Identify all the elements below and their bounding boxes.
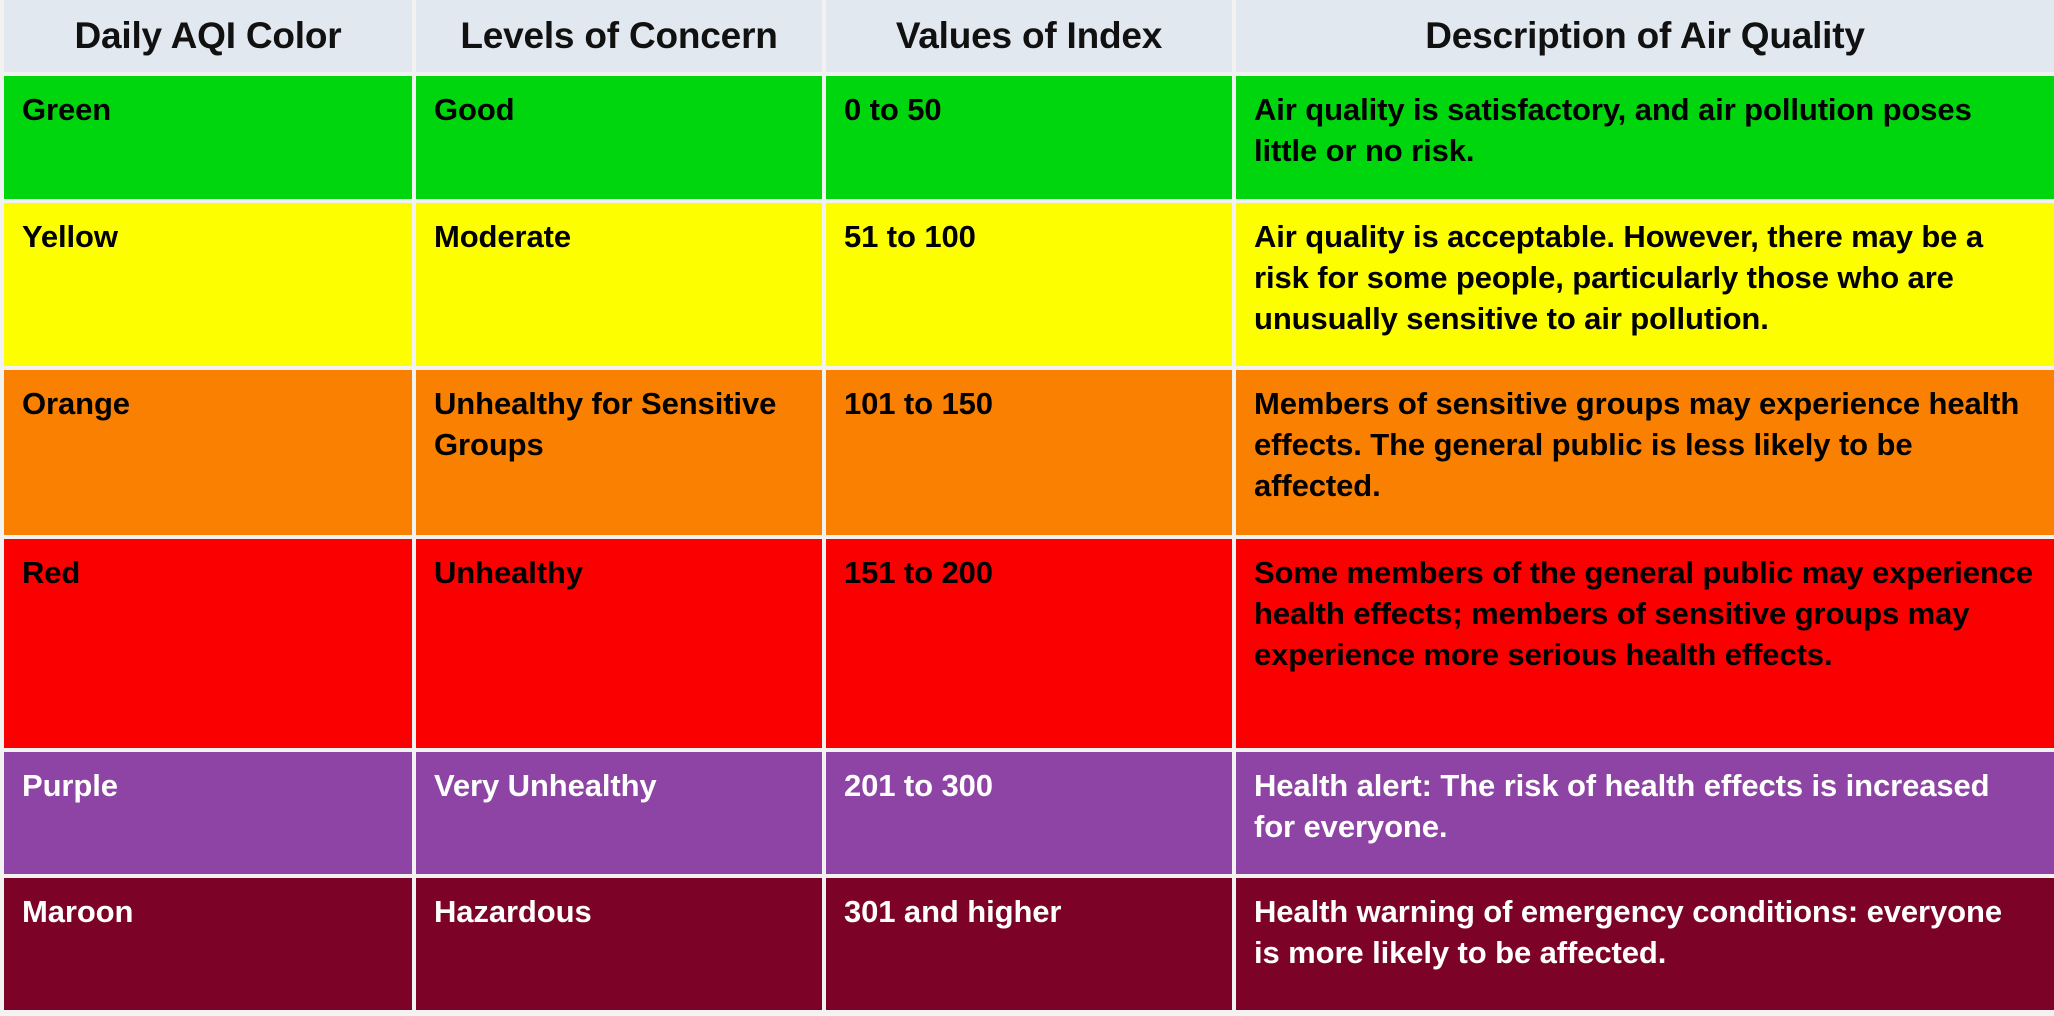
cell-description: Members of sensitive groups may experien…	[1234, 368, 2054, 537]
cell-level-of-concern: Good	[414, 74, 824, 201]
cell-values-of-index: 101 to 150	[824, 368, 1234, 537]
table-row: Purple Very Unhealthy 201 to 300 Health …	[2, 750, 2054, 876]
cell-values-of-index: 0 to 50	[824, 74, 1234, 201]
table-header: Daily AQI Color Levels of Concern Values…	[2, 0, 2054, 74]
cell-description: Health alert: The risk of health effects…	[1234, 750, 2054, 876]
cell-description: Air quality is acceptable. However, ther…	[1234, 201, 2054, 368]
table-row: Red Unhealthy 151 to 200 Some members of…	[2, 537, 2054, 750]
table-header-row: Daily AQI Color Levels of Concern Values…	[2, 0, 2054, 74]
cell-level-of-concern: Unhealthy	[414, 537, 824, 750]
table-row: Maroon Hazardous 301 and higher Health w…	[2, 876, 2054, 1012]
cell-aqi-color: Maroon	[2, 876, 414, 1012]
cell-description: Health warning of emergency conditions: …	[1234, 876, 2054, 1012]
column-header-levels-of-concern: Levels of Concern	[414, 0, 824, 74]
table-row: Yellow Moderate 51 to 100 Air quality is…	[2, 201, 2054, 368]
cell-description: Some members of the general public may e…	[1234, 537, 2054, 750]
column-header-description-of-air-quality: Description of Air Quality	[1234, 0, 2054, 74]
cell-aqi-color: Purple	[2, 750, 414, 876]
aqi-table-container: Daily AQI Color Levels of Concern Values…	[0, 0, 2054, 1016]
column-header-values-of-index: Values of Index	[824, 0, 1234, 74]
table-body: Green Good 0 to 50 Air quality is satisf…	[2, 74, 2054, 1012]
cell-values-of-index: 301 and higher	[824, 876, 1234, 1012]
cell-level-of-concern: Hazardous	[414, 876, 824, 1012]
cell-description: Air quality is satisfactory, and air pol…	[1234, 74, 2054, 201]
cell-aqi-color: Orange	[2, 368, 414, 537]
cell-level-of-concern: Unhealthy for Sensitive Groups	[414, 368, 824, 537]
cell-values-of-index: 51 to 100	[824, 201, 1234, 368]
daily-aqi-color-table: Daily AQI Color Levels of Concern Values…	[0, 0, 2054, 1014]
cell-aqi-color: Green	[2, 74, 414, 201]
cell-values-of-index: 151 to 200	[824, 537, 1234, 750]
cell-level-of-concern: Moderate	[414, 201, 824, 368]
table-row: Orange Unhealthy for Sensitive Groups 10…	[2, 368, 2054, 537]
column-header-daily-aqi-color: Daily AQI Color	[2, 0, 414, 74]
cell-level-of-concern: Very Unhealthy	[414, 750, 824, 876]
cell-aqi-color: Yellow	[2, 201, 414, 368]
cell-values-of-index: 201 to 300	[824, 750, 1234, 876]
cell-aqi-color: Red	[2, 537, 414, 750]
table-row: Green Good 0 to 50 Air quality is satisf…	[2, 74, 2054, 201]
